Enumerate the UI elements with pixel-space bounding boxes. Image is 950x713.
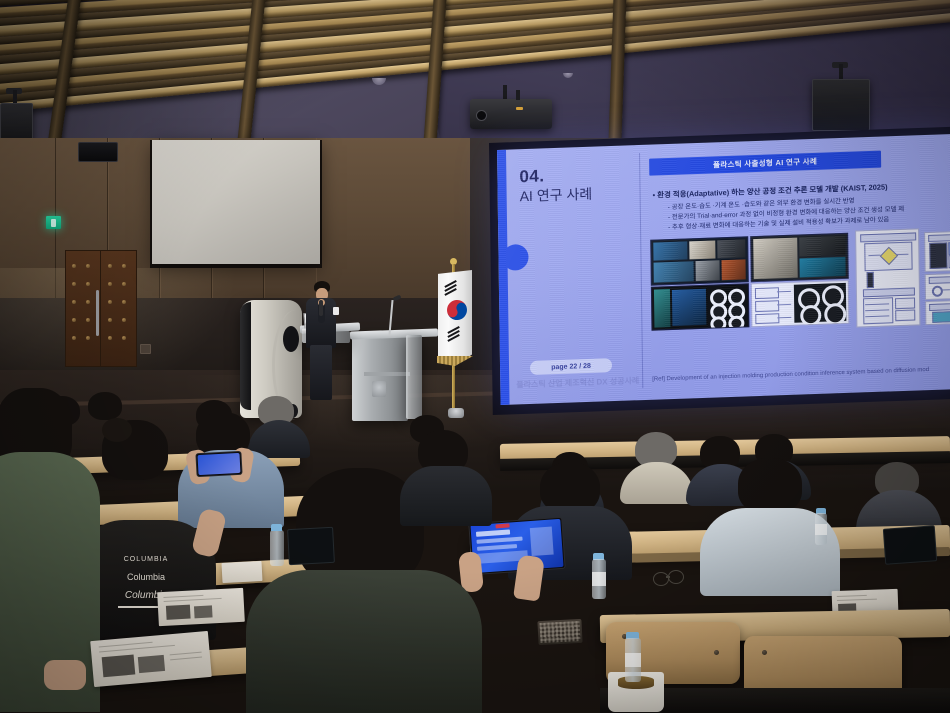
hand [44,660,86,690]
audience-head [738,458,802,514]
slide-figure-right-mid [925,272,950,300]
slide-figure-right-bottom [925,299,950,325]
hair-bun [102,418,132,442]
projected-slide: 04. AI 연구 사례 플라스틱 사출성형 AI 연구 사례 • 환경 적응(… [497,134,950,405]
slide-banner: 플라스틱 사출성형 AI 연구 사례 [649,151,881,176]
handout-left-2 [90,631,212,687]
name-badge [333,307,339,315]
audience-torso [400,466,492,526]
slide-deck-footer: 플라스틱 산업 제조혁신 DX 성공사례 [516,375,639,390]
slide-page-label: page 22 / 28 [551,362,591,370]
slide-figure-right-top [924,230,950,272]
secondary-projection-screen [152,140,320,264]
tablet-left[interactable] [287,527,335,565]
slide-figure-flowchart [855,228,920,327]
slide-figure-group [650,228,950,335]
smartphone-camera-left[interactable] [195,451,242,477]
handout-left-1 [157,588,245,626]
slide-number: 04. [519,166,544,187]
flag-stand-base [448,408,464,418]
slide-page-pill: page 22 / 28 [530,358,612,375]
screenshot-root: 04. AI 연구 사례 플라스틱 사출성형 AI 연구 사례 • 환경 적응(… [0,0,950,713]
slide-figure-d [751,280,850,327]
exit-sign-icon [46,216,61,229]
handheld-microphone[interactable] [319,300,323,316]
wall-outlet [140,344,151,354]
bottle-left [270,530,284,566]
wall-monitor [78,142,118,162]
slide-figure-c [651,283,750,330]
slide-reference: [Ref] Development of an injection moldin… [652,367,929,383]
keyboard[interactable] [537,619,582,645]
tablet-device[interactable] [883,525,937,565]
bottle-cap-left [271,524,282,531]
slide-figure-b [750,233,849,282]
audience-head [88,392,122,420]
slide-banner-text: 플라스틱 사출성형 AI 연구 사례 [713,156,817,171]
slide-figure-a [650,236,749,285]
audience-torso [246,570,482,713]
slide-section-title: AI 연구 사례 [520,184,593,207]
slide-divider [639,153,643,388]
handout-left-3 [222,561,263,583]
presenter-legs [310,345,332,400]
hand-holding-phone [513,554,545,601]
slide-accent-circle [502,244,528,271]
